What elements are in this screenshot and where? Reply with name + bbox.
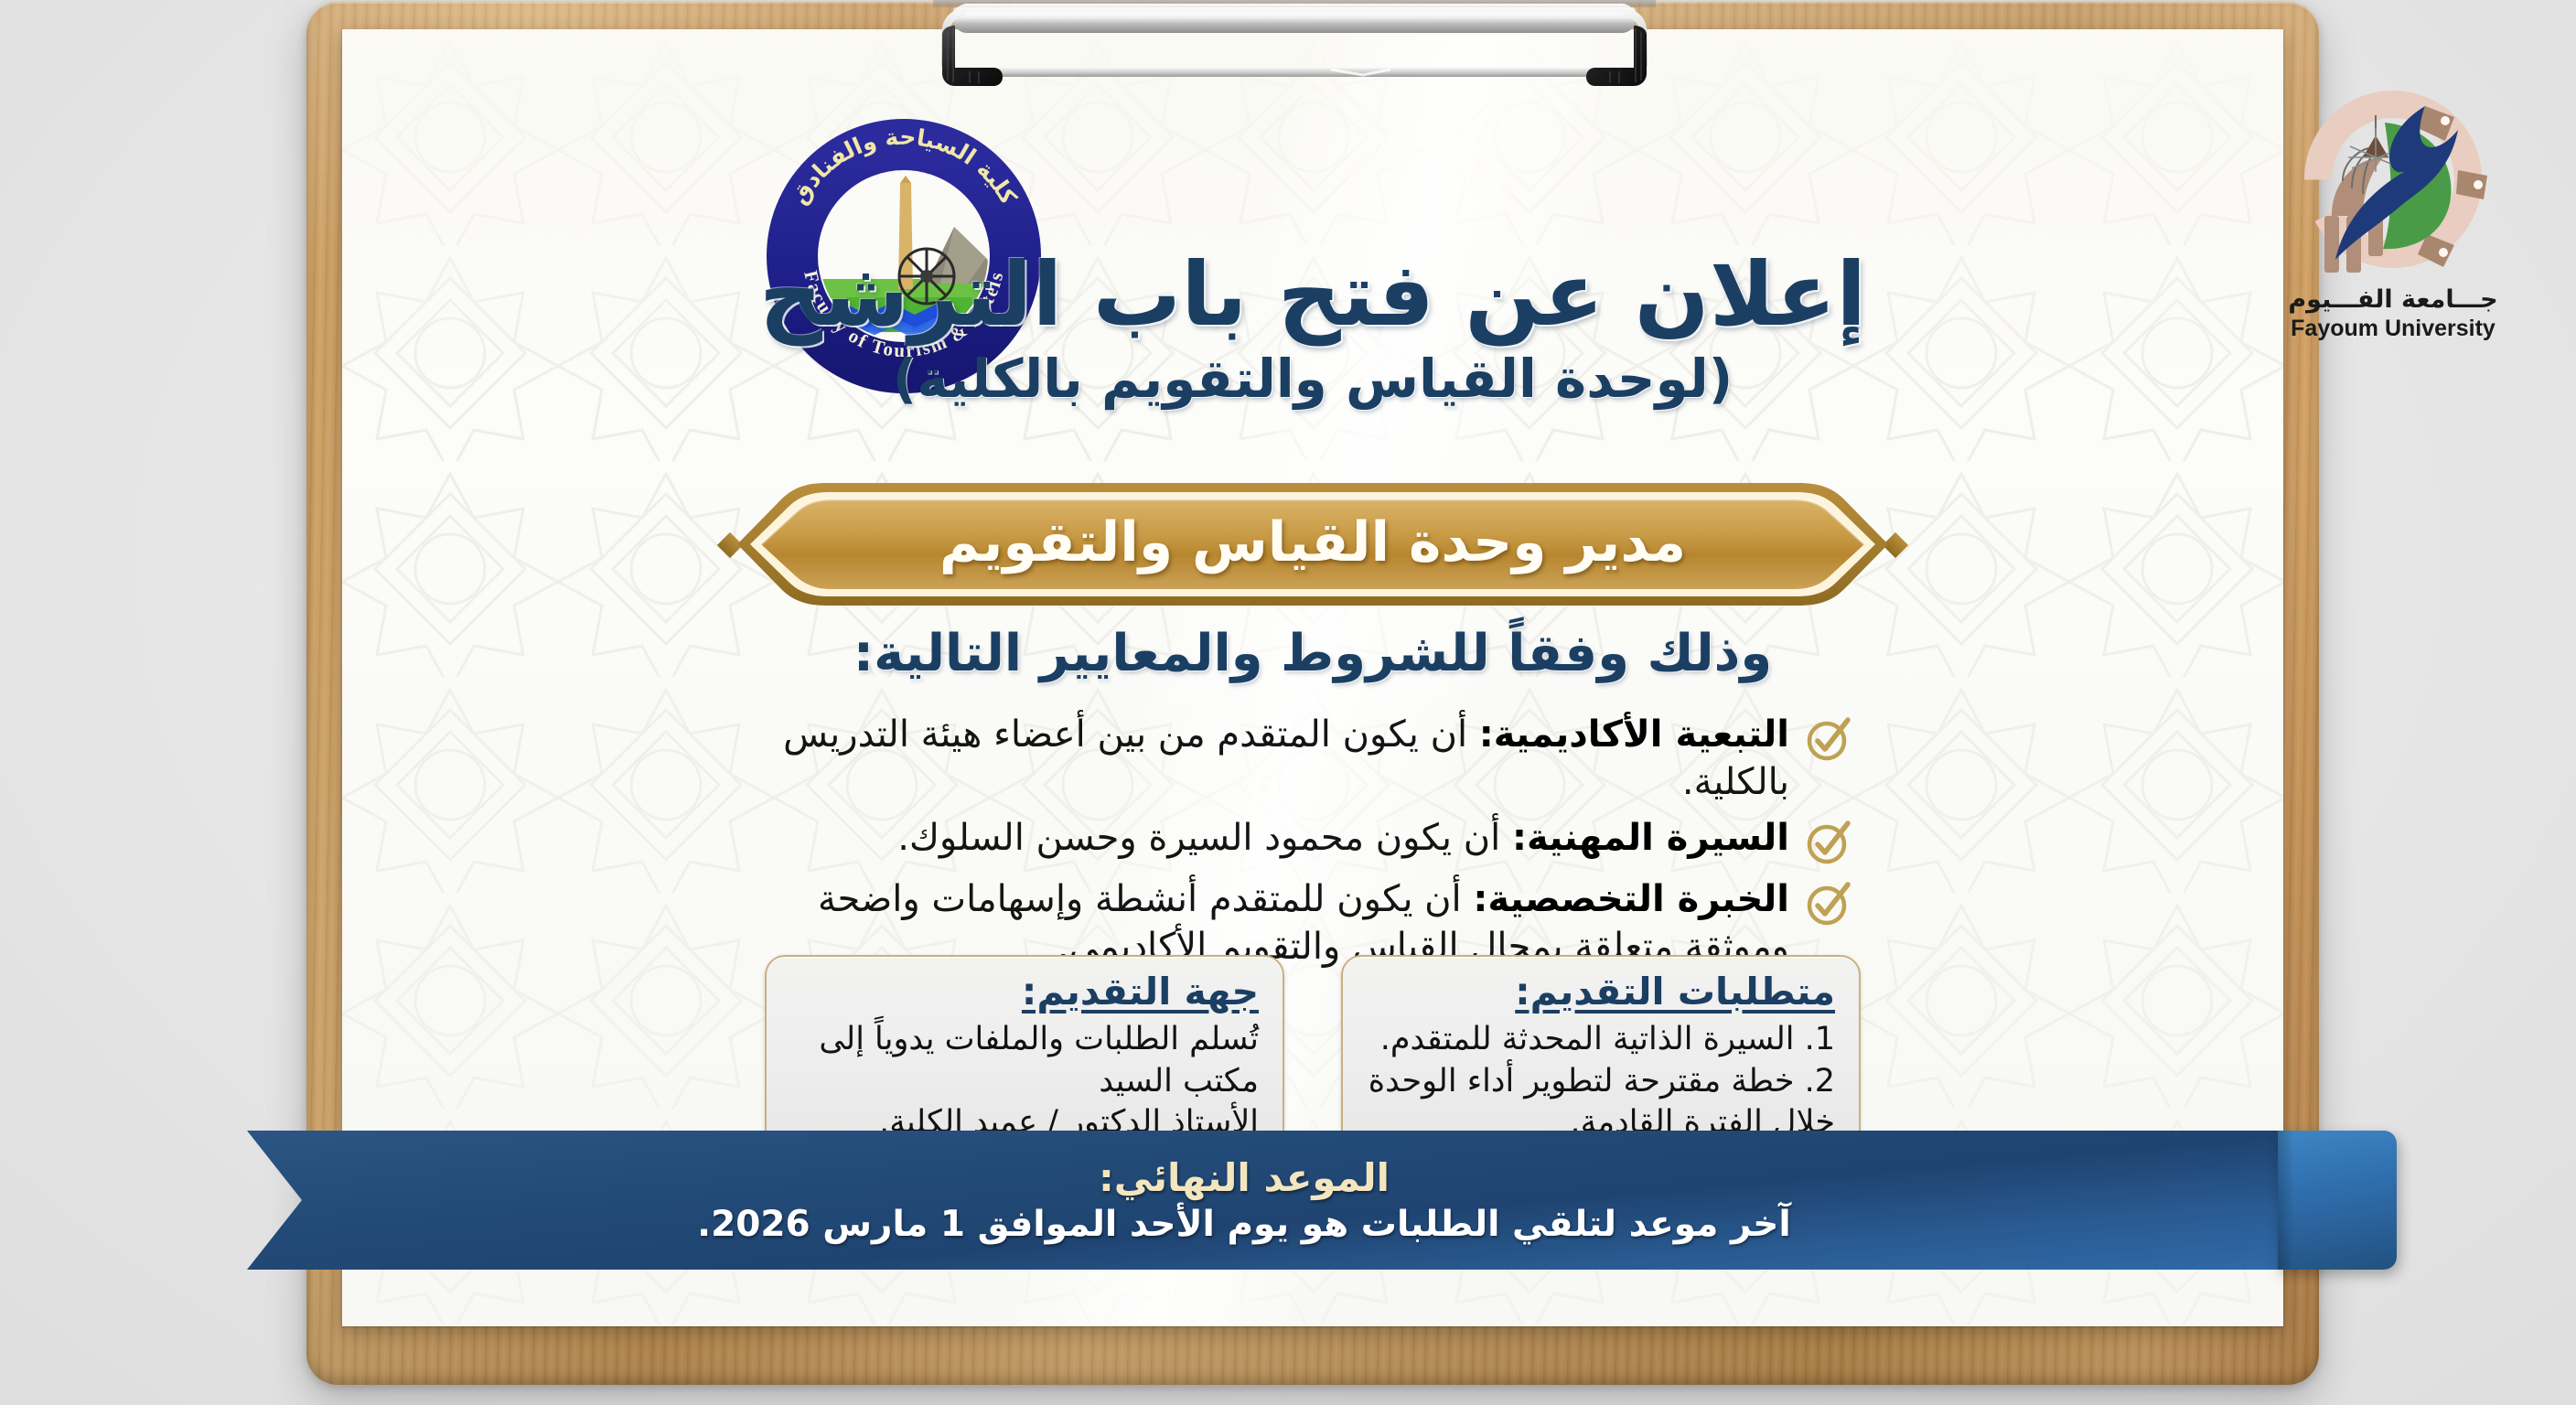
deadline-title: الموعد النهائي:: [1099, 1155, 1390, 1200]
requirements-line-1: 1. السيرة الذاتية المحدثة للمتقدم.: [1367, 1019, 1835, 1061]
submission-line-1: تُسلم الطلبات والملفات يدوياً إلى مكتب ا…: [790, 1019, 1259, 1102]
check-circle-icon: [1804, 818, 1853, 867]
position-plaque-label: مدير وحدة القياس والتقويم: [714, 481, 1912, 607]
deadline-text: آخر موعد لتلقي الطلبات هو يوم الأحد المو…: [697, 1204, 1790, 1245]
deadline-ribbon: الموعد النهائي: آخر موعد لتلقي الطلبات ه…: [247, 1131, 2397, 1270]
clipboard-clip: [933, 0, 1656, 108]
criteria-item-label: السيرة المهنية:: [1512, 817, 1789, 859]
submission-card-title: جهة التقديم:: [790, 970, 1259, 1014]
university-name-english: Fayoum University: [2274, 316, 2512, 342]
page-subtitle: (لوحدة القياس والتقويم بالكلية): [342, 348, 2283, 410]
fayoum-university-logo: جـــامعة الفـــيوم Fayoum University: [2274, 80, 2512, 355]
requirements-card-title: متطلبات التقديم:: [1367, 970, 1835, 1014]
criteria-item: التبعية الأكاديمية: أن يكون المتقدم من ب…: [735, 711, 1853, 806]
check-circle-icon: [1804, 714, 1853, 764]
criteria-item: السيرة المهنية: أن يكون محمود السيرة وحس…: [735, 814, 1853, 867]
position-plaque-wrapper: مدير وحدة القياس والتقويم: [342, 481, 2283, 607]
check-circle-icon: [1804, 879, 1853, 928]
deadline-ribbon-tail: [2278, 1131, 2397, 1270]
criteria-item-label: الخبرة التخصصية:: [1473, 878, 1789, 920]
criteria-item-body: أن يكون محمود السيرة وحسن السلوك.: [897, 817, 1512, 859]
criteria-item-label: التبعية الأكاديمية:: [1479, 713, 1789, 756]
position-plaque: مدير وحدة القياس والتقويم: [714, 481, 1912, 607]
university-name-arabic: جـــامعة الفـــيوم: [2274, 285, 2512, 314]
criteria-intro-text: وذلك وفقاً للشروط والمعايير التالية:: [342, 624, 2283, 683]
page-title: إعلان عن فتح باب الترشح: [342, 249, 2283, 342]
criteria-item-text: السيرة المهنية: أن يكون محمود السيرة وحس…: [735, 814, 1789, 862]
criteria-list: التبعية الأكاديمية: أن يكون المتقدم من ب…: [735, 711, 1853, 979]
deadline-ribbon-text: الموعد النهائي: آخر موعد لتلقي الطلبات ه…: [247, 1131, 2278, 1270]
criteria-item-text: التبعية الأكاديمية: أن يكون المتقدم من ب…: [735, 711, 1789, 806]
